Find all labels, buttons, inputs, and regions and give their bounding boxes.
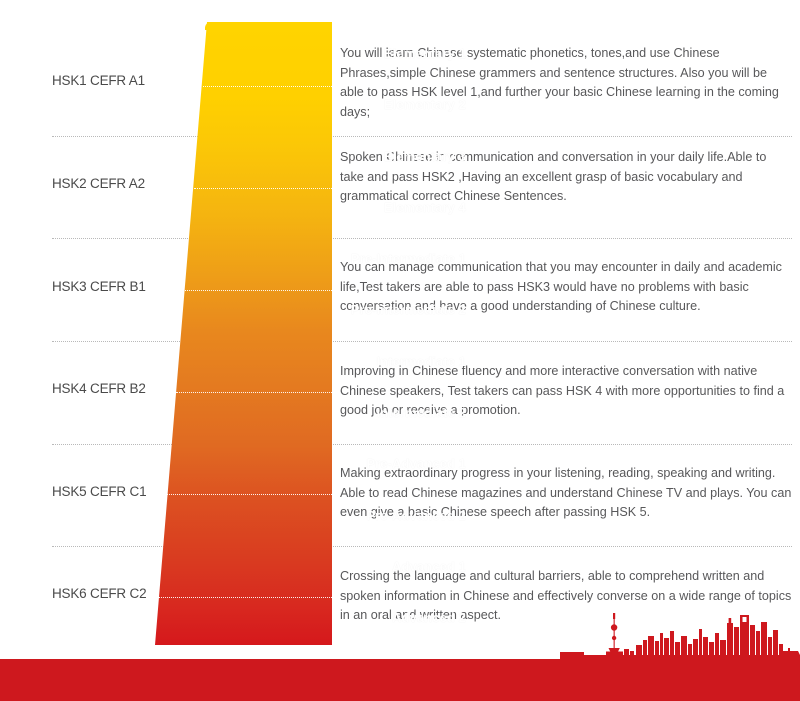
level-label-pre-advanced-1: Pre-Advanced 1	[206, 456, 466, 471]
footer-red-bar	[0, 659, 800, 701]
level-pyramid	[150, 22, 332, 645]
level-label-pre-intermediate-2: Pre-Intermediate 2	[206, 302, 466, 317]
sub-level-separator	[176, 392, 332, 393]
level-label-elementary-1: Elementary 1	[206, 46, 466, 61]
sub-level-separator	[158, 597, 332, 598]
sub-level-separator	[167, 494, 332, 495]
level-label-pre-advanced-2: Pre-Advanced 2	[206, 508, 466, 523]
level-label-elementary-2: Elementary 2	[206, 97, 466, 112]
pyramid-top-corner	[205, 22, 213, 30]
level-label-elementary-3: Elementary 3	[206, 149, 466, 164]
level-label-pre-intermediate-1: Pre-Intermediate 1	[206, 251, 466, 266]
sub-level-separator	[203, 86, 332, 87]
level-label-intermediate-1: Intermediate 1	[206, 354, 466, 369]
level-label-elementary-4: Elementary 4	[206, 200, 466, 215]
level-label-advanced-1: Advanced 1	[206, 559, 466, 574]
hsk-level-chart: HSK1 CEFR A1 HSK2 CEFR A2 HSK3 CEFR B1 H…	[0, 0, 800, 701]
shanghai-skyline-icon	[560, 611, 800, 663]
sub-level-separator	[194, 188, 332, 189]
pyramid-gradient-shape	[150, 22, 332, 645]
sub-level-separator	[185, 290, 332, 291]
level-label-intermediate-2: Intermediate 2	[206, 405, 466, 420]
level-label-advanced-2: Advanced 2	[206, 610, 466, 625]
